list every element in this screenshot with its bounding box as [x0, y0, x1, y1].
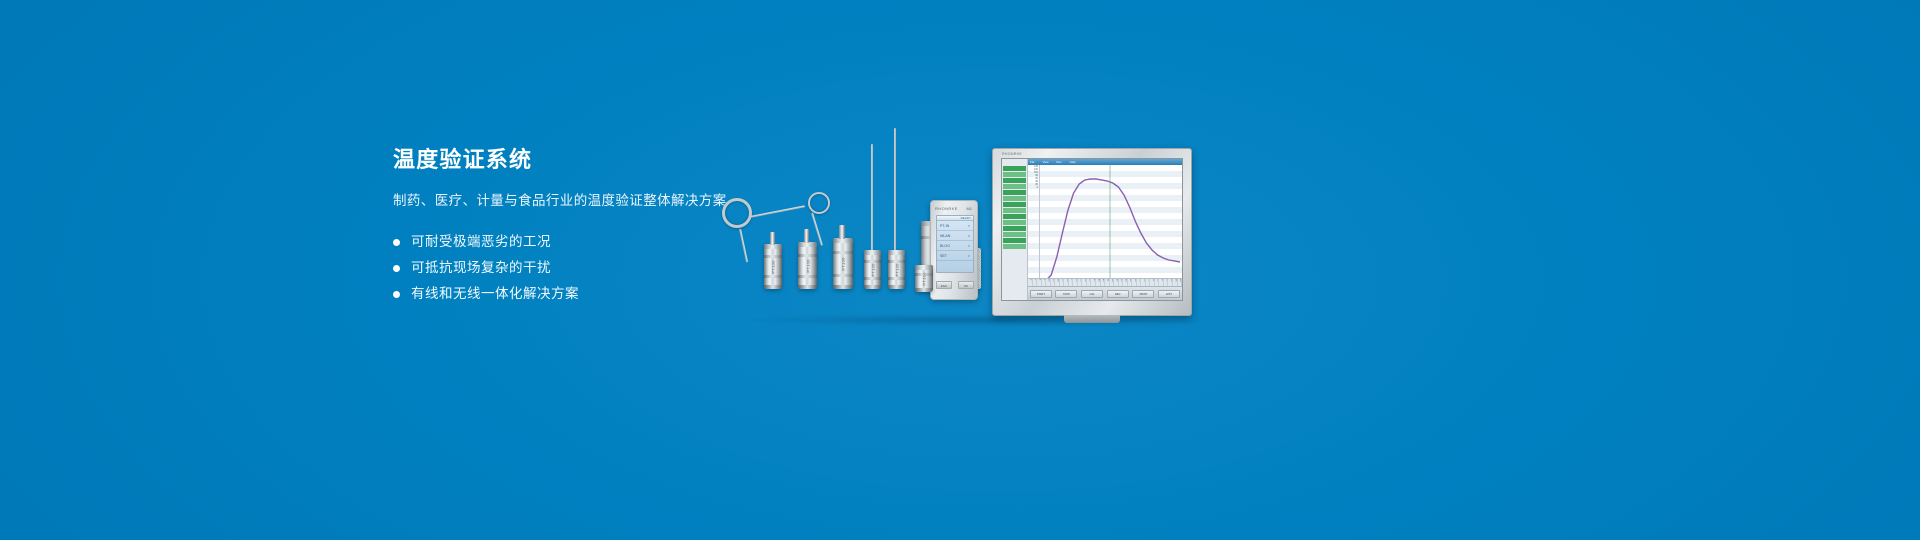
- y-tick: 0: [1028, 186, 1039, 189]
- handheld-row-label: WLAN: [940, 234, 950, 238]
- channel-row[interactable]: [1003, 208, 1026, 213]
- toolbar-item-run[interactable]: Run: [1057, 160, 1062, 164]
- toolbar-item-view[interactable]: View: [1043, 160, 1049, 164]
- channel-row[interactable]: [1003, 220, 1026, 225]
- logger-face-text: PT100: [805, 259, 810, 272]
- monitor-button-stop[interactable]: STOP: [1055, 290, 1077, 298]
- feature-label: 可耐受极端恶劣的工况: [411, 229, 551, 255]
- coil-wire-left: [750, 205, 805, 218]
- logger-5: PT100: [888, 250, 905, 289]
- channel-row[interactable]: [1003, 178, 1026, 183]
- handheld-row-label: BLOG: [940, 244, 950, 248]
- coil-probe-left-icon: [722, 198, 752, 228]
- handheld-row-value: >: [968, 254, 970, 258]
- monitor-button-bar: START STOP CAL REC PRINT EXIT: [1028, 286, 1182, 300]
- handheld-row-value: >: [968, 224, 970, 228]
- handheld-row-label: SET: [940, 254, 947, 258]
- logger-4: PT100: [864, 250, 881, 289]
- channel-row[interactable]: [1003, 244, 1026, 249]
- monitor-brand-label: RHONRKE: [1002, 152, 1022, 156]
- logger-3-stud: [839, 225, 845, 239]
- monitor-button-rec[interactable]: REC: [1107, 290, 1129, 298]
- temperature-chart: 140 120 100 80 60 40 20 0: [1028, 165, 1182, 278]
- logger-2: PT100: [798, 242, 817, 289]
- needle-probe-tall: [871, 144, 873, 264]
- handheld-key-ok[interactable]: OK: [958, 281, 974, 289]
- product-montage: PT100 PT100 PT100 PT100 PT100: [700, 120, 1260, 320]
- logger-2-stud: [804, 229, 809, 243]
- logger-face-text: PT100: [894, 263, 899, 276]
- monitor-button-print[interactable]: PRINT: [1132, 290, 1154, 298]
- toolbar-item-file[interactable]: File: [1030, 160, 1035, 164]
- x-tick: 99: [1178, 279, 1183, 286]
- monitor-main-area: File View Run Help 140 120 100 80 60: [1028, 159, 1182, 300]
- channel-row[interactable]: [1003, 190, 1026, 195]
- handheld-reader-device[interactable]: RHONRKE M1 READY PT-IN > WLAN > BLOG > S…: [930, 200, 978, 300]
- handheld-screen-row[interactable]: BLOG >: [937, 241, 973, 251]
- logger-1: PT100: [764, 244, 782, 289]
- hero-banner: 温度验证系统 制药、医疗、计量与食品行业的温度验证整体解决方案 可耐受极端恶劣的…: [0, 0, 1920, 540]
- handheld-screen-row[interactable]: WLAN >: [937, 231, 973, 241]
- chart-y-axis: 140 120 100 80 60 40 20 0: [1028, 165, 1040, 278]
- handheld-screen-row[interactable]: SET >: [937, 251, 973, 261]
- toolbar-item-help[interactable]: Help: [1070, 160, 1076, 164]
- logger-3: PT100: [833, 238, 853, 289]
- bullet-dot-icon: [393, 265, 400, 272]
- handheld-screen-row[interactable]: PT-IN >: [937, 221, 973, 231]
- handheld-model-label: M1: [966, 206, 972, 211]
- feature-label: 可抵抗现场复杂的干扰: [411, 255, 551, 281]
- handheld-row-value: >: [968, 234, 970, 238]
- monitor-stand: [1064, 315, 1120, 323]
- handheld-row-label: PT-IN: [940, 224, 949, 228]
- logger-face-text: PT100: [922, 272, 927, 285]
- logger-8: PT100: [915, 265, 933, 292]
- feature-label: 有线和无线一体化解决方案: [411, 281, 579, 307]
- coil-probe-right-icon: [808, 192, 830, 214]
- coil-wire-right: [811, 213, 823, 246]
- channel-row[interactable]: [1003, 184, 1026, 189]
- monitor-button-cal[interactable]: CAL: [1081, 290, 1103, 298]
- coil-drop-left: [739, 229, 748, 263]
- bullet-dot-icon: [393, 239, 400, 246]
- chart-x-axis: 0369121518212427303336394245485154576063…: [1028, 278, 1182, 286]
- channel-row[interactable]: [1003, 172, 1026, 177]
- handheld-screen: READY PT-IN > WLAN > BLOG > SET >: [936, 215, 974, 273]
- logger-face-text: PT100: [841, 257, 846, 270]
- bullet-dot-icon: [393, 291, 400, 298]
- channel-row[interactable]: [1003, 238, 1026, 243]
- monitor-button-exit[interactable]: EXIT: [1158, 290, 1180, 298]
- handheld-key-esc[interactable]: ESC: [936, 281, 952, 289]
- channel-row[interactable]: [1003, 226, 1026, 231]
- channel-row[interactable]: [1003, 202, 1026, 207]
- handheld-row-value: >: [968, 244, 970, 248]
- logger-face-text: PT100: [771, 260, 776, 273]
- channel-row[interactable]: [1003, 214, 1026, 219]
- monitor-screen: File View Run Help 140 120 100 80 60: [1001, 158, 1183, 301]
- monitor-channel-sidebar[interactable]: [1002, 159, 1028, 300]
- channel-row[interactable]: [1003, 166, 1026, 171]
- monitor-button-start[interactable]: START: [1030, 290, 1052, 298]
- channel-row[interactable]: [1003, 232, 1026, 237]
- logger-1-stud: [770, 232, 775, 245]
- channel-row[interactable]: [1003, 196, 1026, 201]
- logger-face-text: PT100: [870, 263, 875, 276]
- panel-monitor-device[interactable]: RHONRKE: [992, 148, 1192, 316]
- needle-probe-extra-tall: [894, 128, 896, 264]
- handheld-keypad: ESC OK: [936, 277, 974, 293]
- handheld-brand-label: RHONRKE: [935, 206, 958, 211]
